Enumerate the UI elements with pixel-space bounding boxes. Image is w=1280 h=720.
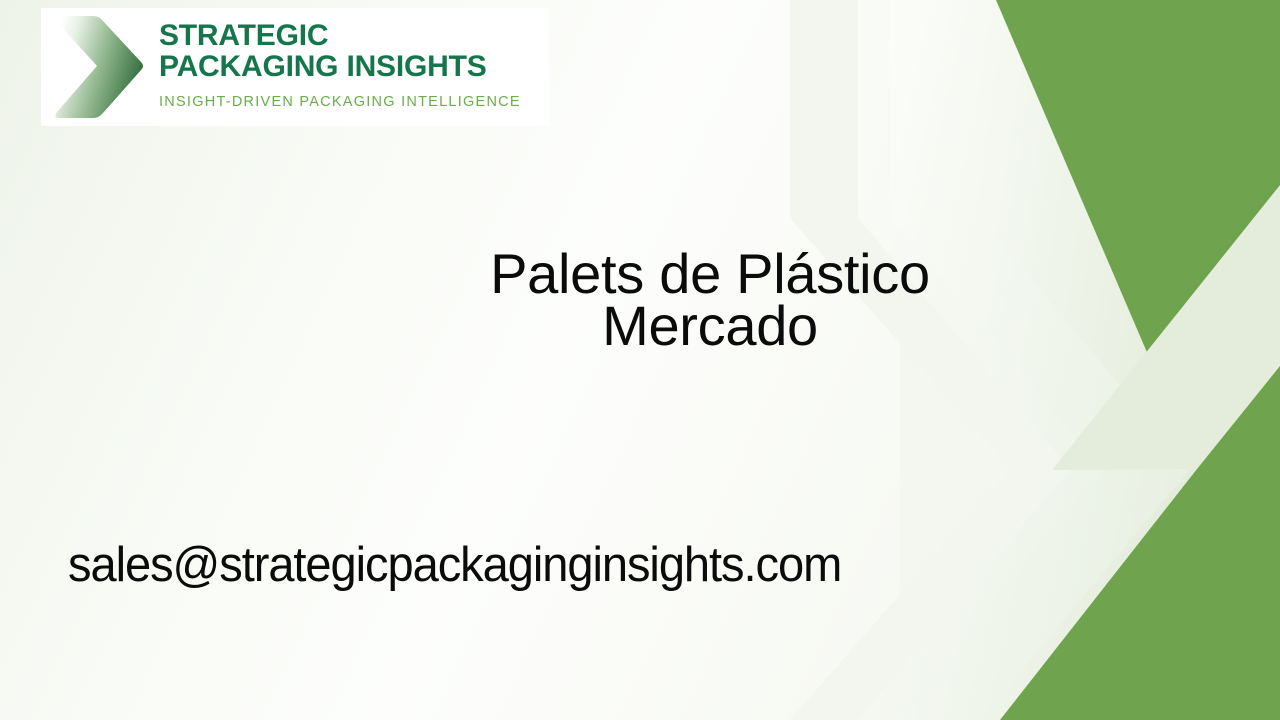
brand-logo: STRATEGIC PACKAGING INSIGHTS INSIGHT-DRI… (41, 8, 549, 126)
logo-tagline: INSIGHT-DRIVEN PACKAGING INTELLIGENCE (159, 94, 549, 110)
title-slide: STRATEGIC PACKAGING INSIGHTS INSIGHT-DRI… (0, 0, 1280, 720)
logo-line-2: PACKAGING INSIGHTS (159, 51, 549, 82)
contact-email: sales@strategicpackaginginsights.com (68, 535, 841, 595)
logo-wordmark: STRATEGIC PACKAGING INSIGHTS INSIGHT-DRI… (159, 8, 549, 110)
page-title: Palets de Plástico Mercado (360, 248, 1060, 352)
chevron-arrow-mark-icon (41, 8, 159, 126)
logo-line-1: STRATEGIC (159, 20, 549, 51)
